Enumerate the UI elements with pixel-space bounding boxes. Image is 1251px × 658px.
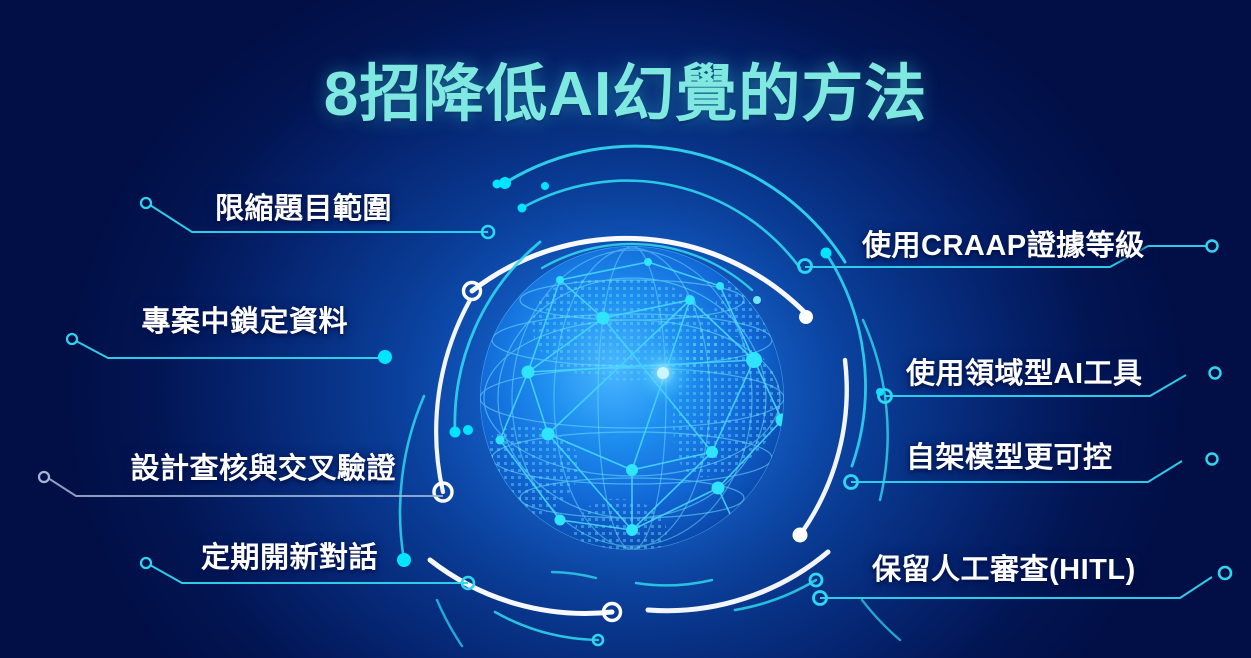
method-label-2: 專案中鎖定資料 — [0, 305, 348, 339]
method-label-7: 自架模型更可控 — [906, 441, 1113, 475]
method-label-4: 定期開新對話 — [0, 541, 378, 575]
infographic-poster: 8招降低AI幻覺的方法 限縮題目範圍 專案中鎖定資料 設計查核與交叉驗證 定期開… — [0, 0, 1251, 658]
page-title: 8招降低AI幻覺的方法 — [0, 58, 1251, 132]
method-label-3: 設計查核與交叉驗證 — [0, 452, 396, 486]
method-label-8: 保留人工審查(HITL) — [872, 553, 1136, 587]
method-label-1: 限縮題目範圍 — [0, 192, 392, 226]
method-label-5: 使用CRAAP證據等級 — [862, 229, 1145, 263]
method-label-6: 使用領域型AI工具 — [906, 357, 1143, 391]
